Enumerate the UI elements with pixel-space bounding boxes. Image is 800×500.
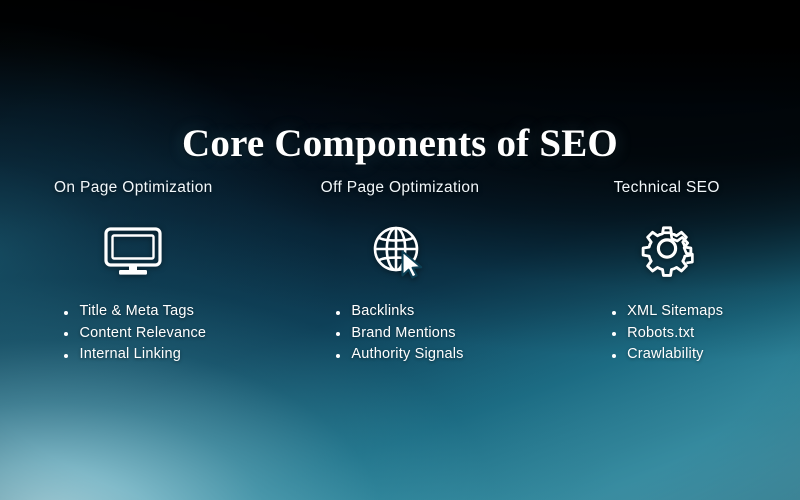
column-header-off-page: Off Page Optimization [321, 178, 480, 198]
list-item: Crawlability [610, 344, 723, 366]
list-item: Brand Mentions [334, 323, 463, 345]
column-technical-seo: Technical SEO XML Sit [533, 178, 800, 366]
list-item: Content Relevance [62, 323, 206, 345]
gear-icon [640, 224, 694, 280]
bullet-list-technical-seo: XML Sitemaps Robots.txt Crawlability [610, 301, 723, 366]
list-item: Internal Linking [62, 344, 206, 366]
column-off-page-optimization: Off Page Optimization [267, 178, 534, 366]
bullet-list-on-page: Title & Meta Tags Content Relevance Inte… [62, 301, 206, 366]
bullet-list-off-page: Backlinks Brand Mentions Authority Signa… [334, 301, 463, 366]
globe-cursor-icon [372, 224, 428, 280]
slide-canvas: Core Components of SEO On Page Optimizat… [0, 0, 800, 500]
column-on-page-optimization: On Page Optimization Title & Meta Tags C… [0, 178, 267, 366]
monitor-icon [103, 224, 163, 280]
columns-container: On Page Optimization Title & Meta Tags C… [0, 178, 800, 366]
list-item: Backlinks [334, 301, 463, 323]
list-item: Robots.txt [610, 323, 723, 345]
column-header-technical-seo: Technical SEO [614, 178, 720, 198]
column-header-on-page: On Page Optimization [54, 178, 213, 198]
list-item: Authority Signals [334, 344, 463, 366]
list-item: XML Sitemaps [610, 301, 723, 323]
list-item: Title & Meta Tags [62, 301, 206, 323]
page-title: Core Components of SEO [0, 121, 800, 167]
